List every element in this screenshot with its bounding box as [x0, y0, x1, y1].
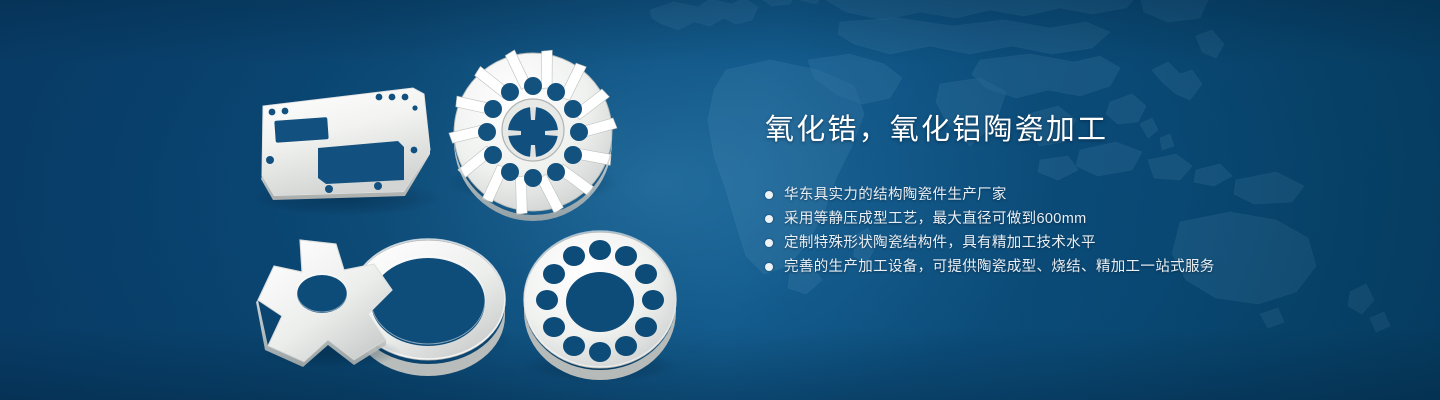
list-item: 采用等静压成型工艺，最大直径可做到600mm: [765, 208, 1385, 231]
hero-banner: 氧化锆，氧化铝陶瓷加工 华东具实力的结构陶瓷件生产厂家 采用等静压成型工艺，最大…: [0, 0, 1440, 400]
feature-text: 定制特殊形状陶瓷结构件，具有精加工技术水平: [784, 232, 1096, 255]
list-item: 华东具实力的结构陶瓷件生产厂家: [765, 184, 1385, 207]
page-title: 氧化锆，氧化铝陶瓷加工: [765, 112, 1385, 149]
list-item: 定制特殊形状陶瓷结构件，具有精加工技术水平: [765, 232, 1385, 255]
list-item: 完善的生产加工设备，可提供陶瓷成型、烧结、精加工一站式服务: [765, 256, 1385, 279]
feature-list: 华东具实力的结构陶瓷件生产厂家 采用等静压成型工艺，最大直径可做到600mm 定…: [765, 184, 1385, 279]
bullet-dot-icon: [765, 239, 773, 247]
bullet-dot-icon: [765, 191, 773, 199]
bullet-dot-icon: [765, 215, 773, 223]
feature-text: 采用等静压成型工艺，最大直径可做到600mm: [784, 208, 1087, 231]
bullet-dot-icon: [765, 263, 773, 271]
banner-copy: 氧化锆，氧化铝陶瓷加工 华东具实力的结构陶瓷件生产厂家 采用等静压成型工艺，最大…: [765, 112, 1385, 280]
feature-text: 完善的生产加工设备，可提供陶瓷成型、烧结、精加工一站式服务: [784, 256, 1215, 279]
feature-text: 华东具实力的结构陶瓷件生产厂家: [784, 184, 1007, 207]
